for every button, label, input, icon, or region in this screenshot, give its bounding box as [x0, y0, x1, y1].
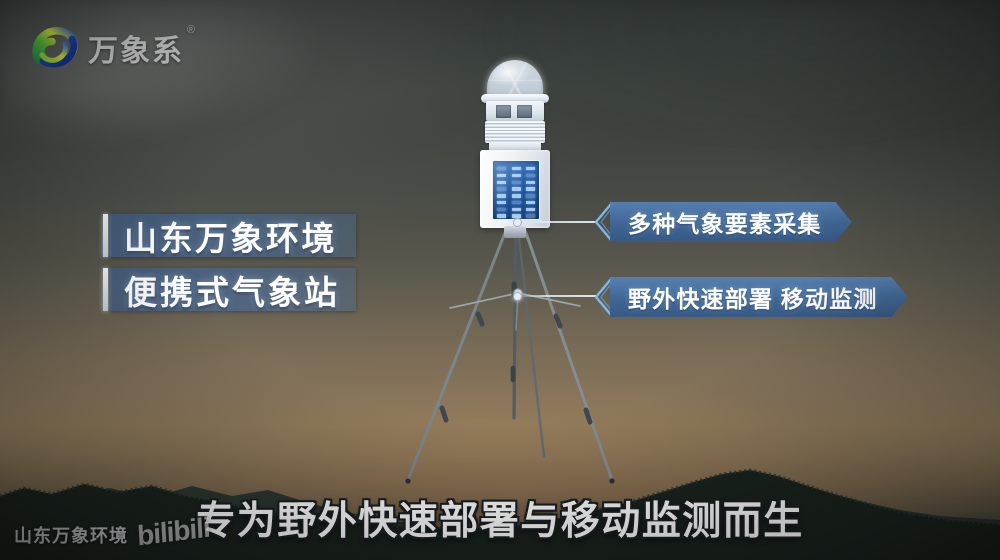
weather-station-device [455, 58, 575, 238]
subtitle-caption-text: 专为野外快速部署与移动监测而生 [196, 490, 804, 546]
callout-badge-deployment: 野外快速部署 移动监测 [592, 277, 908, 317]
logo-wordmark: 万象系 ® [88, 26, 184, 70]
device-body [480, 150, 550, 228]
lcd-data-cell [526, 214, 535, 217]
title-line-product-text: 便携式气象站 [124, 266, 340, 314]
chevron-left-icon [592, 202, 612, 242]
callout-badge-features-body: 多种气象要素采集 [610, 202, 852, 242]
watermark-brand-text: 山东万象环境 [14, 522, 128, 548]
callout-badge-deployment-text: 野外快速部署 移动监测 [628, 280, 878, 314]
logo-wordmark-text: 万象系 [88, 35, 184, 68]
callout-leader-line-1 [520, 221, 596, 223]
registered-trademark-icon: ® [187, 24, 197, 36]
tripod-mount [504, 226, 526, 238]
lcd-display [492, 160, 540, 220]
title-line-company-text: 山东万象环境 [124, 212, 337, 260]
callout-badge-features-text: 多种气象要素采集 [628, 205, 822, 239]
title-block: 山东万象环境 便携式气象站 [110, 214, 356, 322]
vent-slot-right [517, 105, 532, 118]
watermark: 山东万象环境 bilibili [14, 516, 210, 548]
chevron-left-icon [592, 277, 612, 317]
callout-anchor-node-2 [513, 292, 522, 301]
brand-logo: 万象系 ® [28, 22, 184, 74]
callout-badge-deployment-body: 野外快速部署 移动监测 [610, 277, 908, 317]
video-frame: 山东万象环境 便携式气象站 多种气象要素采集 野外快速部署 移动监测 [0, 0, 1000, 560]
radiation-shield-vents [486, 101, 544, 121]
callout-leader-line-2 [520, 295, 596, 297]
callout-badge-features: 多种气象要素采集 [592, 202, 852, 242]
title-line-product: 便携式气象站 [110, 268, 356, 311]
bilibili-logo-icon: bilibili [136, 512, 210, 553]
lcd-data-cell [526, 208, 535, 211]
title-line-company: 山东万象环境 [110, 214, 356, 257]
vent-slot-left [496, 105, 511, 118]
cooling-fins [485, 121, 545, 143]
callout-anchor-node-1 [513, 218, 522, 227]
globe-swirl-logo-icon [28, 22, 80, 74]
